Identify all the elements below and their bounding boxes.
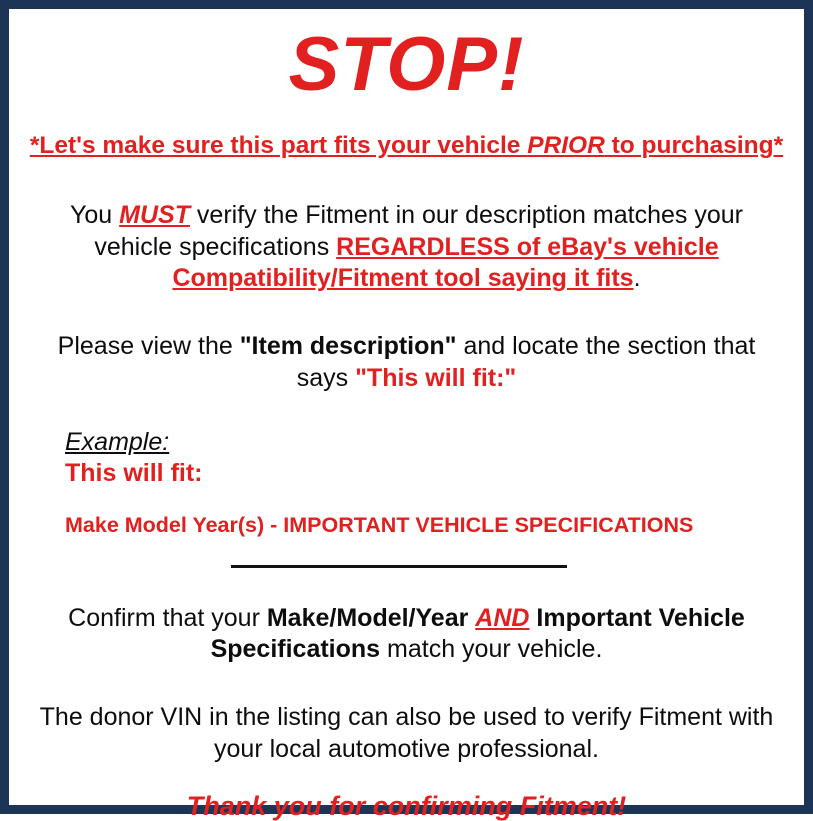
tagline-emphasis-prior: PRIOR: [527, 132, 605, 159]
tagline: *Let's make sure this part fits your veh…: [21, 133, 792, 160]
emphasis-must: MUST: [119, 201, 190, 229]
emphasis-and: AND: [475, 604, 529, 632]
example-label: Example:: [65, 429, 169, 457]
emphasis-this-will-fit: "This will fit:": [355, 364, 516, 392]
example-block: Example: This will fit: Make Model Year(…: [21, 429, 792, 538]
stop-heading: STOP!: [21, 27, 792, 103]
tagline-prefix: *Let's make sure this part fits your veh…: [30, 132, 527, 159]
example-label-row: Example:: [65, 429, 792, 457]
paragraph-confirm: Confirm that your Make/Model/Year AND Im…: [21, 603, 792, 667]
divider-rule: [231, 565, 567, 568]
divider-wrapper: [21, 565, 792, 575]
thank-you-line: Thank you for confirming Fitment!: [21, 792, 792, 821]
example-spec-line: Make Model Year(s) - IMPORTANT VEHICLE S…: [65, 514, 792, 538]
paragraph-item-description: Please view the "Item description" and l…: [21, 331, 792, 395]
fitment-notice-card: STOP! *Let's make sure this part fits yo…: [0, 0, 813, 814]
tagline-suffix: to purchasing*: [605, 132, 783, 159]
confirm-part2: match your vehicle.: [380, 635, 602, 663]
paragraph-donor-vin: The donor VIN in the listing can also be…: [21, 702, 792, 766]
confirm-part1: Confirm that your: [68, 604, 267, 632]
itemdesc-part1: Please view the: [58, 332, 240, 360]
must-part1: You: [70, 201, 119, 229]
emphasis-item-description: "Item description": [240, 332, 457, 360]
example-this-will-fit: This will fit:: [65, 459, 792, 488]
emphasis-make-model-year: Make/Model/Year: [267, 604, 468, 632]
paragraph-must-verify: You MUST verify the Fitment in our descr…: [21, 200, 792, 295]
must-part3: .: [634, 264, 641, 292]
